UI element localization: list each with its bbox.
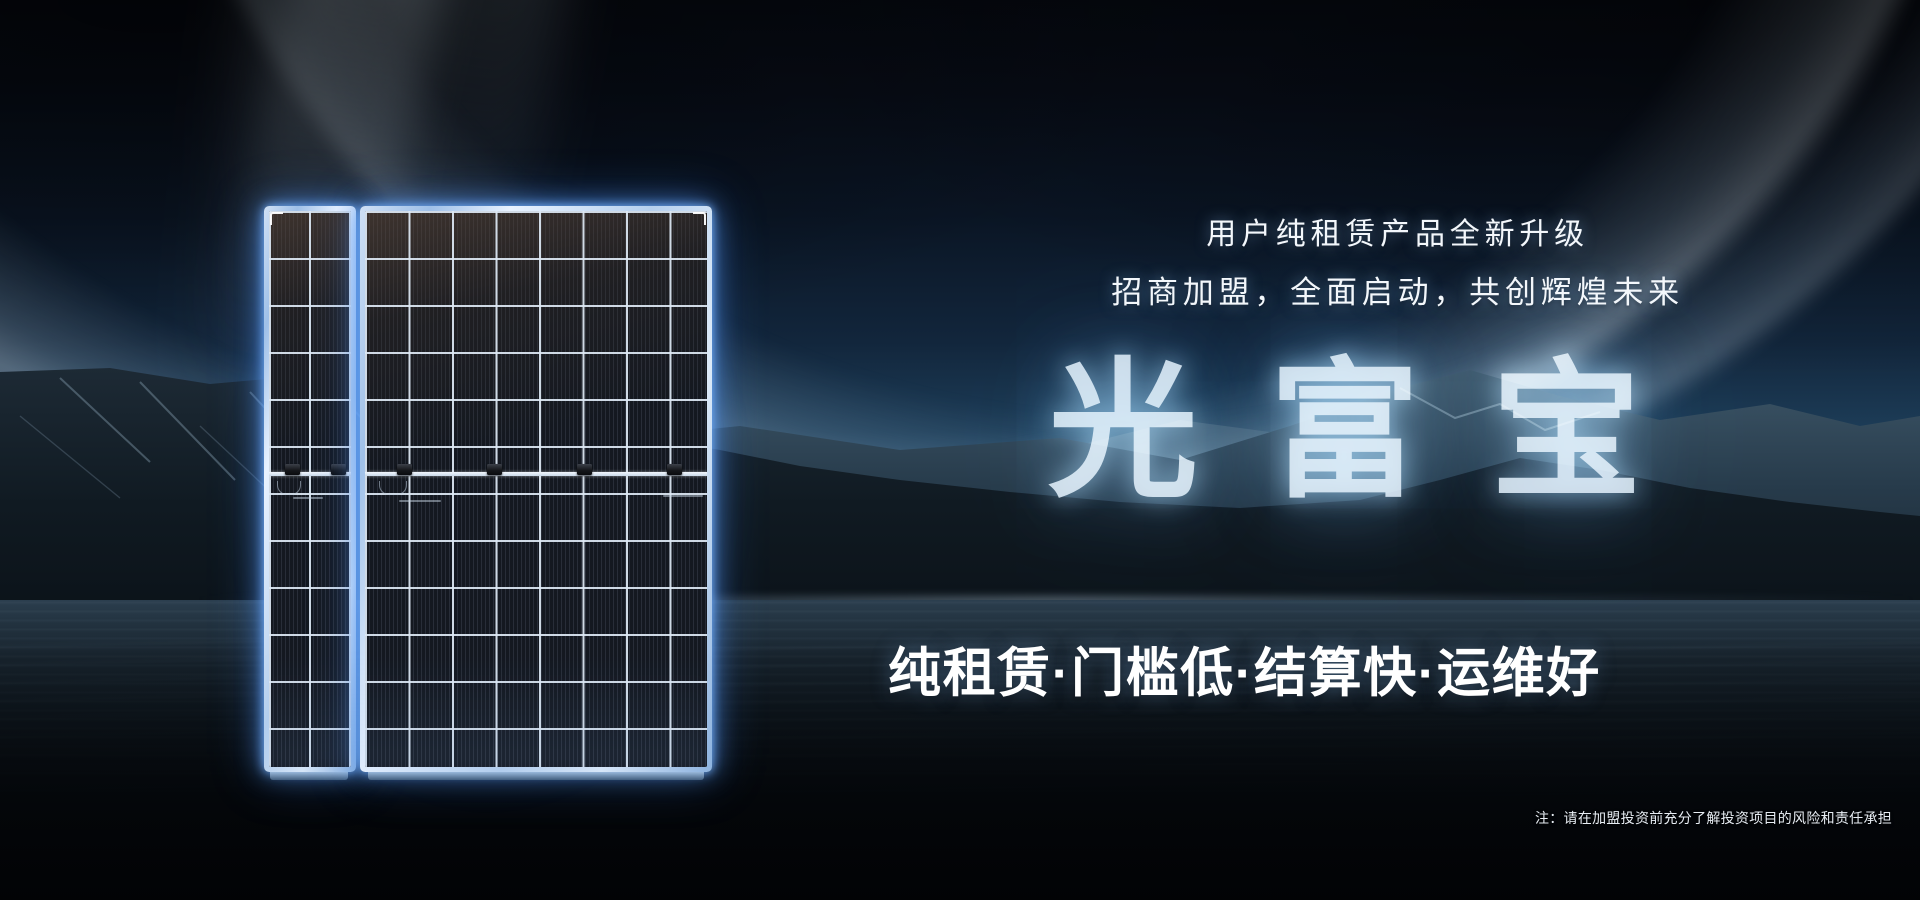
center-busbar-right (365, 472, 707, 476)
dc-cable (399, 500, 441, 502)
promotional-banner: 用户纯租赁产品全新升级 招商加盟，全面启动，共创辉煌未来 光 富 宝 纯租赁·门… (0, 0, 1920, 900)
headline-line-2: 招商加盟，全面启动，共创辉煌未来 (1111, 264, 1684, 322)
junction-box (331, 464, 346, 475)
brand-title: 光 富 宝 (1048, 356, 1656, 506)
dc-cable-loop (379, 481, 407, 495)
headline-block: 用户纯租赁产品全新升级 招商加盟，全面启动，共创辉煌未来 (1111, 206, 1684, 322)
junction-box (487, 464, 502, 475)
frame-corner-icon (270, 212, 283, 225)
panel-ground-reflection (264, 652, 712, 772)
mounting-foot (368, 772, 704, 780)
mounting-foot (270, 772, 348, 780)
headline-line-1: 用户纯租赁产品全新升级 (1111, 206, 1684, 264)
dc-cable (663, 495, 703, 497)
frame-corner-icon (693, 212, 706, 225)
junction-box (667, 464, 682, 475)
solar-panel-product (264, 206, 712, 772)
junction-box (577, 464, 592, 475)
junction-box (285, 464, 300, 475)
disclaimer-note: 注：请在加盟投资前充分了解投资项目的风险和责任承担 (1535, 808, 1892, 828)
junction-box (397, 464, 412, 475)
tagline: 纯租赁·门槛低·结算快·运维好 (888, 644, 1601, 705)
